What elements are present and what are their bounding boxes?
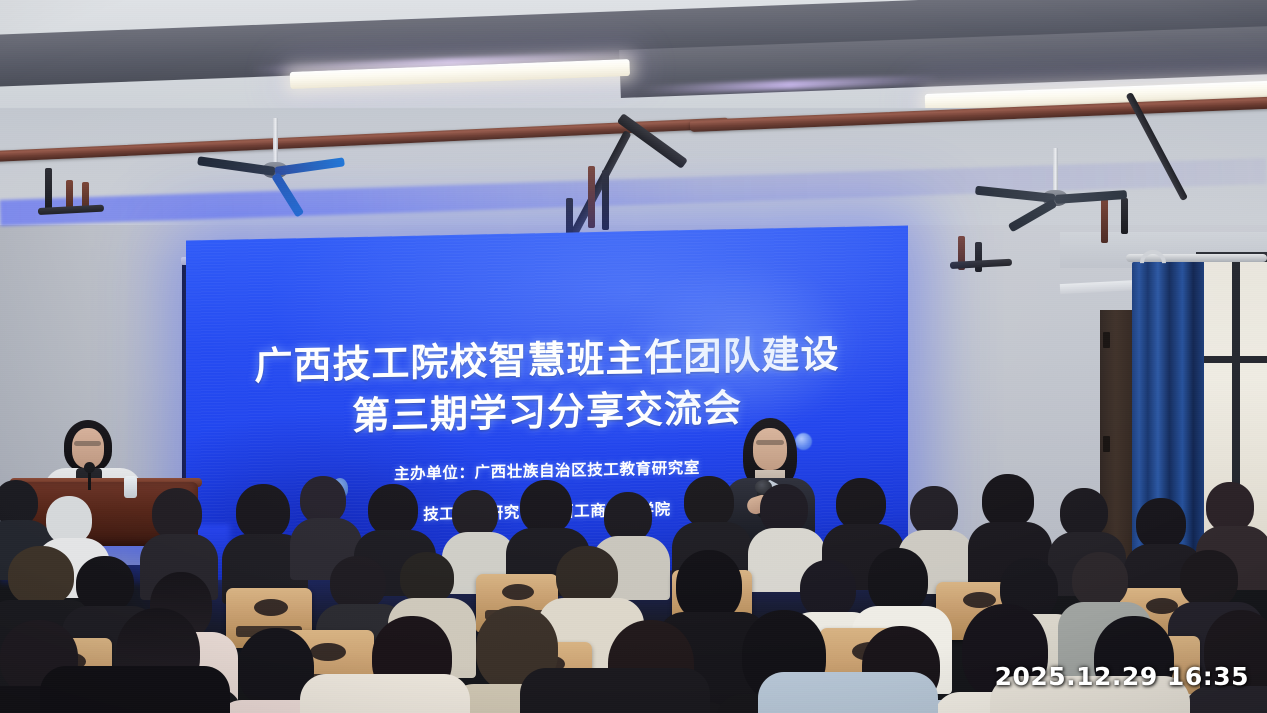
audience-head bbox=[982, 474, 1034, 528]
speaker-glasses bbox=[74, 441, 101, 446]
audience-head bbox=[368, 484, 418, 536]
door-hinge-top bbox=[1103, 332, 1110, 348]
audience-head bbox=[910, 486, 958, 536]
audience-head bbox=[836, 478, 886, 530]
audience-body bbox=[300, 674, 470, 713]
audience-head bbox=[1180, 550, 1238, 608]
presenter-head bbox=[753, 428, 787, 470]
audience-head bbox=[452, 490, 498, 538]
audience-body bbox=[520, 668, 710, 713]
chair-backrest-hole bbox=[254, 599, 288, 616]
ceiling-fan-left bbox=[200, 118, 350, 190]
audience-head bbox=[868, 548, 928, 614]
camera-timestamp-overlay: 2025.12.29 16:35 bbox=[995, 662, 1249, 691]
audience-head bbox=[76, 556, 134, 612]
audience-head bbox=[300, 476, 346, 524]
audience-head bbox=[604, 492, 652, 542]
ceiling-fan-right bbox=[980, 148, 1130, 220]
chair-backrest-hole bbox=[502, 584, 534, 600]
audience-head bbox=[760, 484, 808, 534]
pipe-drop-5 bbox=[602, 170, 609, 230]
audience-head bbox=[1136, 498, 1186, 550]
audience-head bbox=[152, 488, 202, 540]
audience-head bbox=[400, 552, 454, 604]
fan-rod bbox=[273, 118, 278, 166]
presenter-glasses bbox=[756, 440, 784, 445]
audience-head bbox=[236, 484, 290, 540]
audience-head bbox=[8, 546, 74, 606]
audience-head bbox=[556, 546, 618, 606]
audience-head bbox=[1072, 552, 1128, 608]
fan-rod bbox=[1053, 148, 1058, 194]
audience-head bbox=[800, 560, 856, 618]
audience-body bbox=[758, 672, 938, 713]
fan-blade-1 bbox=[975, 186, 1056, 203]
audience-head bbox=[520, 480, 572, 534]
door-hinge-bottom bbox=[1103, 436, 1110, 452]
audience-head bbox=[684, 476, 734, 528]
fan-blade-1 bbox=[197, 156, 275, 176]
audience-body bbox=[40, 666, 230, 713]
chair-backrest-hole bbox=[310, 643, 346, 661]
pipe-drop-4 bbox=[588, 166, 595, 228]
audience-head bbox=[1060, 488, 1108, 538]
audience-head bbox=[46, 496, 92, 544]
audience-head bbox=[330, 556, 386, 610]
audience-head bbox=[1206, 482, 1254, 532]
window-mullion-horizontal bbox=[1203, 356, 1267, 363]
conference-photo: 广西技工院校智慧班主任团队建设 第三期学习分享交流会 主办单位：广西壮族自治区技… bbox=[0, 0, 1267, 713]
fan-blade-2 bbox=[274, 157, 345, 176]
